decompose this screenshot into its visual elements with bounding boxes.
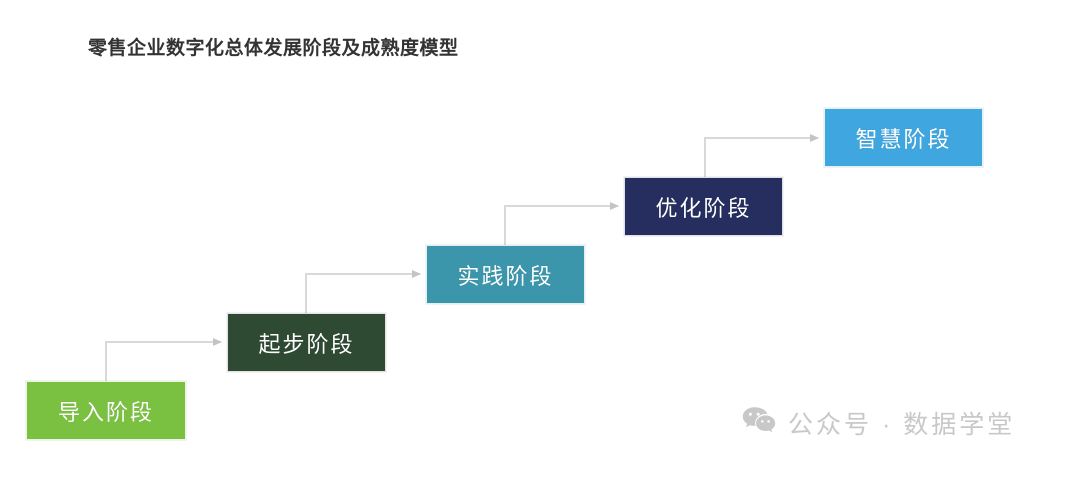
connector-stage3-stage4 xyxy=(505,206,618,245)
diagram-canvas: 零售企业数字化总体发展阶段及成熟度模型 导入阶段 起步阶段 实践阶段 优化阶段 … xyxy=(0,0,1080,480)
connector-stage4-stage5 xyxy=(705,138,818,177)
stage-box-startup[interactable]: 起步阶段 xyxy=(227,313,386,372)
wechat-icon xyxy=(742,406,776,441)
stage-box-intelligent[interactable]: 智慧阶段 xyxy=(824,108,983,167)
stage-label-startup: 起步阶段 xyxy=(258,327,354,359)
stage-label-practice: 实践阶段 xyxy=(457,259,553,291)
stage-box-optimize[interactable]: 优化阶段 xyxy=(624,177,783,236)
stage-box-practice[interactable]: 实践阶段 xyxy=(426,245,585,304)
stage-box-import[interactable]: 导入阶段 xyxy=(26,381,186,440)
watermark: 公众号 · 数据学堂 xyxy=(742,405,1015,441)
stage-label-import: 导入阶段 xyxy=(58,395,154,427)
page-title: 零售企业数字化总体发展阶段及成熟度模型 xyxy=(88,33,459,60)
watermark-text: 公众号 · 数据学堂 xyxy=(788,405,1015,441)
connector-stage1-stage2 xyxy=(106,342,221,381)
stage-label-intelligent: 智慧阶段 xyxy=(855,122,951,154)
stage-label-optimize: 优化阶段 xyxy=(655,191,751,223)
connector-stage2-stage3 xyxy=(306,274,420,313)
